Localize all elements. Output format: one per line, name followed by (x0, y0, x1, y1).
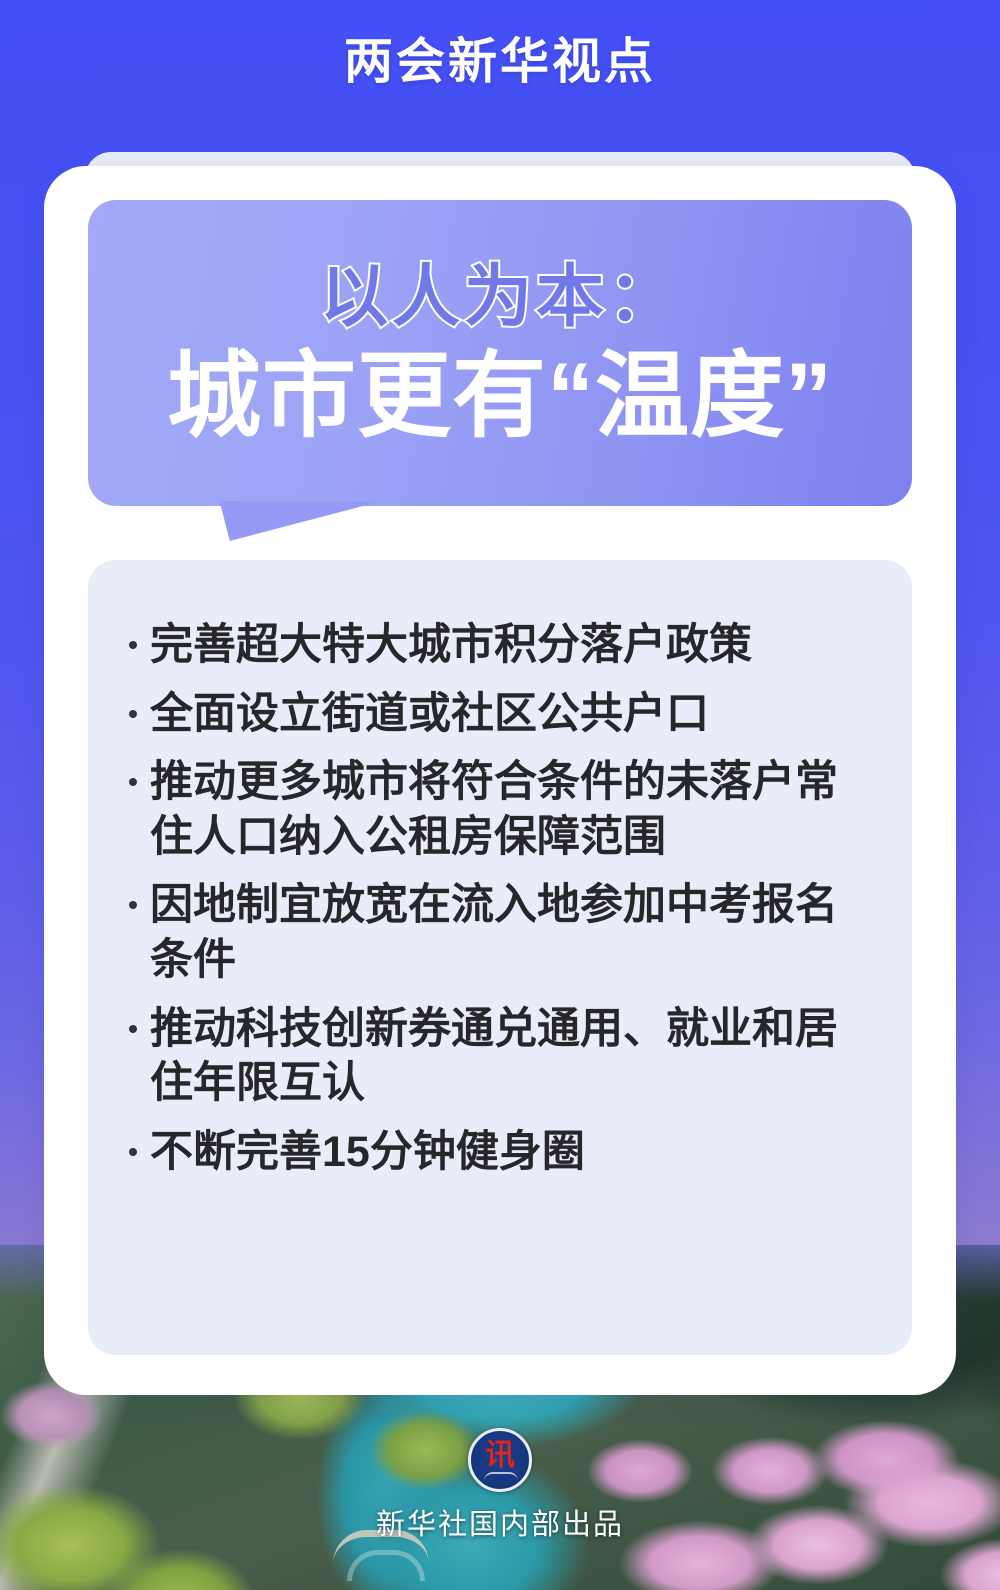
title-bubble-wrapper: 以人为本： 城市更有“温度” (88, 200, 912, 506)
title-speech-bubble: 以人为本： 城市更有“温度” (88, 200, 912, 506)
poster-canvas: 两会新华视点 以人为本： 城市更有“温度” 完善超大特大城市积分落户政策 全面设… (0, 0, 1000, 1590)
header: 两会新华视点 (0, 38, 1000, 87)
title-line-outlined: 以人为本： (320, 263, 680, 331)
bullet-dot-icon (116, 687, 150, 718)
bullet-dot-icon (116, 755, 150, 786)
logo-glyph: 讯 (471, 1441, 529, 1471)
footer: 讯 新华社国内部出品 (0, 1428, 1000, 1543)
list-item: 完善超大特大城市积分落户政策 (116, 618, 878, 673)
list-item: 全面设立街道或社区公共户口 (116, 687, 878, 742)
title-line-main: 城市更有“温度” (167, 349, 833, 443)
list-item: 推动科技创新券通兑通用、就业和居住年限互认 (116, 1002, 878, 1111)
list-item-label: 不断完善15分钟健身圈 (150, 1125, 878, 1180)
bullet-dot-icon (116, 1125, 150, 1156)
list-item-label: 因地制宜放宽在流入地参加中考报名条件 (150, 878, 878, 987)
bullet-dot-icon (116, 878, 150, 909)
bullet-dot-icon (116, 1002, 150, 1033)
bullet-dot-icon (116, 618, 150, 649)
policy-bullet-list: 完善超大特大城市积分落户政策 全面设立街道或社区公共户口 推动更多城市将符合条件… (116, 618, 878, 1179)
list-item: 不断完善15分钟健身圈 (116, 1125, 878, 1180)
footer-attribution: 新华社国内部出品 (376, 1501, 624, 1543)
list-item-label: 全面设立街道或社区公共户口 (150, 687, 878, 742)
logo-arc-decoration (484, 1472, 518, 1481)
xinhua-agency-logo-icon: 讯 (468, 1428, 532, 1492)
list-item-label: 推动更多城市将符合条件的未落户常住人口纳入公租房保障范围 (150, 755, 878, 864)
list-item-label: 推动科技创新券通兑通用、就业和居住年限互认 (150, 1002, 878, 1111)
list-item-label: 完善超大特大城市积分落户政策 (150, 618, 878, 673)
content-panel: 完善超大特大城市积分落户政策 全面设立街道或社区公共户口 推动更多城市将符合条件… (88, 560, 912, 1355)
list-item: 推动更多城市将符合条件的未落户常住人口纳入公租房保障范围 (116, 755, 878, 864)
list-item: 因地制宜放宽在流入地参加中考报名条件 (116, 878, 878, 987)
header-title: 两会新华视点 (344, 38, 656, 87)
